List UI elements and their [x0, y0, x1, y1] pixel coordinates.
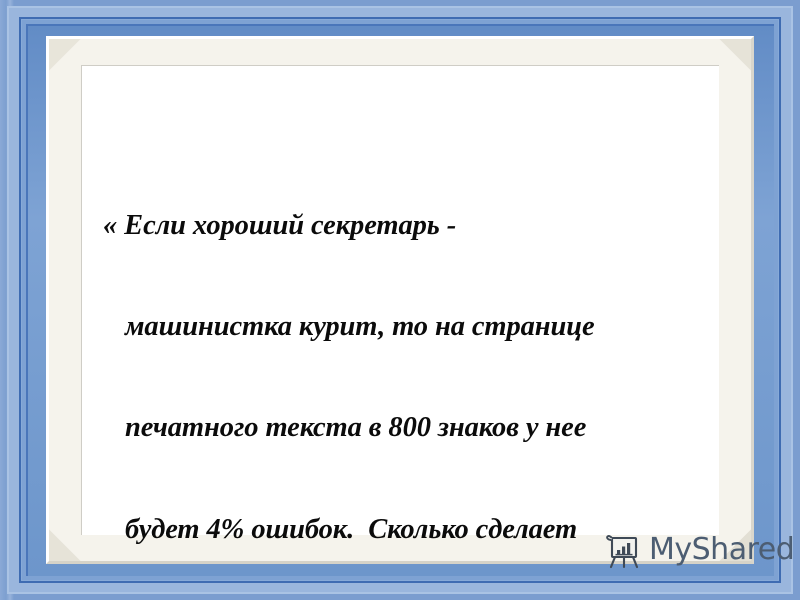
quote-line-3: печатного текста в 800 знаков у нее	[103, 411, 693, 445]
mat-bevel-top-left	[49, 39, 83, 73]
slide-canvas: « Если хороший секретарь - машинистка ку…	[0, 0, 800, 600]
mat-bevel-bottom-left	[49, 527, 83, 561]
myshared-watermark[interactable]: MyShared	[604, 530, 794, 570]
quote-line-1: « Если хороший секретарь -	[103, 209, 693, 243]
myshared-label: MyShared	[649, 535, 794, 565]
picture-frame-mat: « Если хороший секретарь - машинистка ку…	[46, 36, 754, 564]
presentation-easel-chart-icon	[604, 530, 644, 570]
mat-bevel-top-right	[717, 39, 751, 73]
slide-content-area: « Если хороший секретарь - машинистка ку…	[81, 65, 719, 535]
quote-line-2: машинистка курит, то на странице	[103, 310, 693, 344]
